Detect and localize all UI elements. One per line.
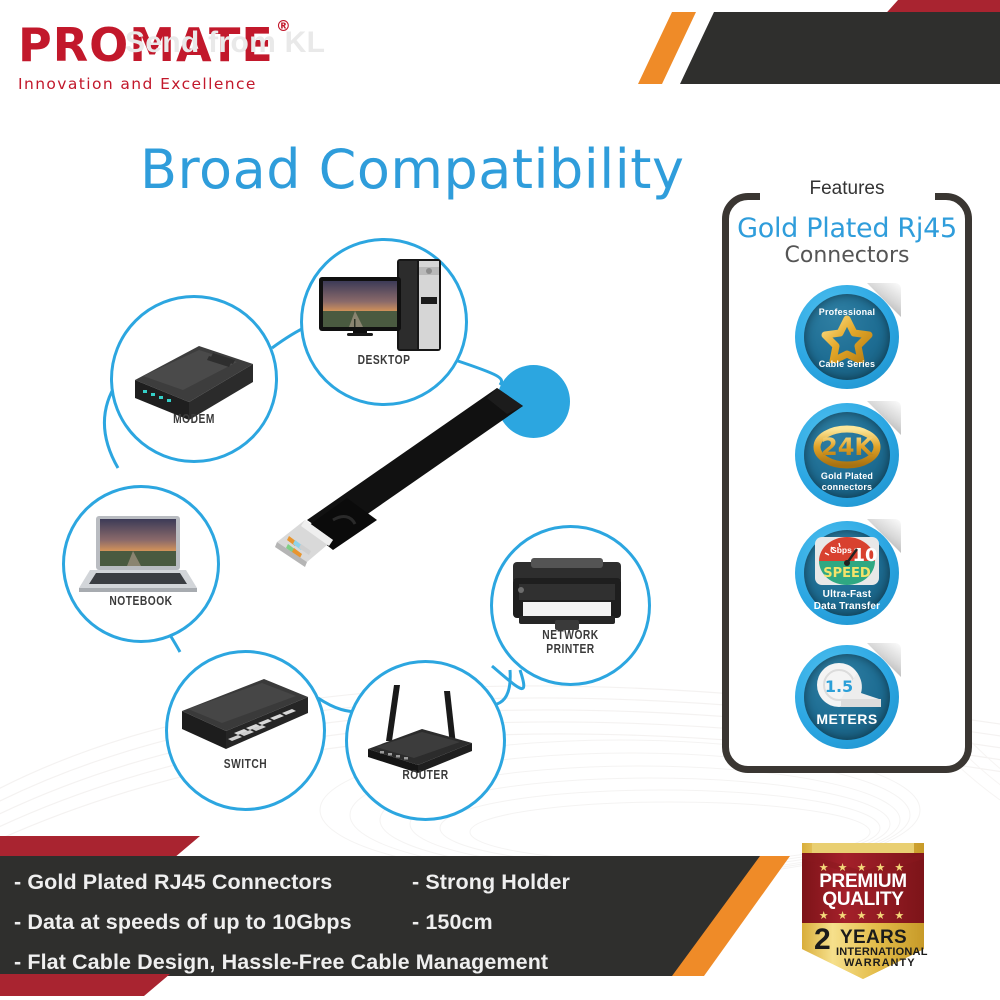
node-modem[interactable]: MODEM [110, 295, 278, 463]
badge-bottom-text: Cable Series [795, 359, 899, 370]
node-switch-label: SWITCH [182, 757, 309, 771]
node-router[interactable]: ROUTER [345, 660, 506, 821]
ethernet-cable-icon [255, 370, 555, 590]
badge-professional-cable-series: Professional Cable Series [795, 285, 899, 389]
badge-caption-line1: METERS [795, 714, 899, 725]
node-switch[interactable]: SWITCH [165, 650, 326, 811]
warranty-line4: WARRANTY [844, 957, 916, 969]
warranty-badge: ★ ★ ★ ★ ★ PREMIUM QUALITY ★ ★ ★ ★ ★ 2 YE… [798, 841, 928, 981]
badge-caption-line1: Ultra-Fast [795, 589, 899, 600]
gold-ring-24k-icon: 24K [809, 421, 885, 469]
features-heading-line1: Gold Plated Rj45 [722, 213, 972, 244]
node-notebook[interactable]: NOTEBOOK [62, 485, 220, 643]
node-notebook-label: NOTEBOOK [79, 594, 204, 608]
tape-measure-icon: 1.5 [811, 659, 883, 715]
shipping-banner [620, 0, 1000, 90]
badge-top-text: Professional [795, 307, 899, 318]
node-desktop-label: DESKTOP [318, 353, 451, 367]
warranty-years-number: 2 [814, 925, 831, 955]
badge-ultra-fast-speed: Gbps 10 SPEED Ultra-Fast Data Transfer [795, 521, 899, 625]
badge-caption-line1: Gold Plated [795, 471, 899, 482]
badge-length: 1.5 METERS [795, 645, 899, 749]
node-router-label: ROUTER [362, 768, 489, 782]
feature-list-right: - Strong Holder - 150cm [412, 870, 570, 950]
bottom-red-accent-top [0, 836, 200, 858]
node-modem-label: MODEM [128, 412, 261, 426]
gauge-unit-text: Gbps [830, 545, 852, 555]
gold-star-knot-icon [821, 315, 873, 363]
badge-caption-line2: connectors [795, 482, 899, 493]
features-heading-line2: Connectors [722, 243, 972, 268]
node-printer-label-line2: PRINTER [507, 642, 634, 656]
warranty-line2: QUALITY [798, 889, 928, 911]
banner-dark-panel [680, 12, 1000, 84]
warranty-stars-bottom: ★ ★ ★ ★ ★ [798, 909, 928, 922]
gauge-value-text: 10 [852, 545, 877, 566]
badge-caption-line2: Data Transfer [795, 601, 899, 612]
wifi-router-icon [348, 663, 497, 812]
badge-length-value: 1.5 [825, 677, 853, 696]
product-marketing-image: PROMATE® Innovation and Excellence Send … [0, 0, 1000, 1000]
brand-tagline: Innovation and Excellence [18, 75, 348, 93]
gauge-word-text: SPEED [823, 566, 871, 581]
feature-item: - Flat Cable Design, Hassle-Free Cable M… [14, 950, 548, 975]
speedometer-icon: Gbps 10 SPEED [813, 535, 881, 587]
features-panel-title: Features [722, 178, 972, 200]
node-printer-label-line1: NETWORK [507, 628, 634, 642]
network-switch-icon [168, 653, 317, 802]
laptop-icon [65, 488, 211, 634]
feature-item: - Strong Holder [412, 870, 570, 895]
feature-item: - 150cm [412, 910, 570, 935]
banner-label: Send from KL [125, 26, 375, 60]
badge-24k-gold: 24K Gold Plated connectors [795, 403, 899, 507]
page-title: Broad Compatibility [140, 138, 684, 201]
modem-icon [113, 298, 269, 454]
badge-24k-text: 24K [821, 433, 874, 461]
